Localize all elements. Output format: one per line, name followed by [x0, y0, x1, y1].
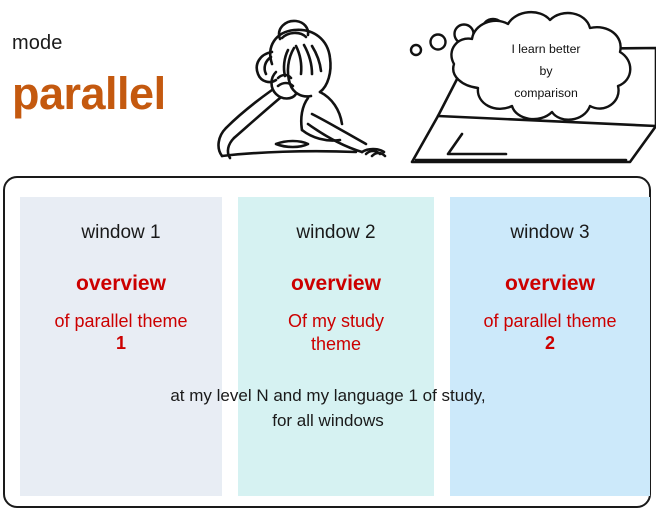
mode-label: mode [12, 33, 62, 53]
window-1-theme-number: 1 [20, 333, 222, 355]
thought-bubble-line-3: comparison [514, 86, 578, 100]
thought-dot-small [411, 45, 421, 55]
mode-title: parallel [12, 71, 166, 116]
window-panel-3[interactable]: window 3 overview of parallel theme 2 [450, 197, 650, 496]
window-3-overview-label: overview [450, 273, 650, 294]
window-1-overview-label: overview [20, 273, 222, 294]
window-1-description: of parallel theme [20, 310, 222, 333]
header: mode parallel [0, 0, 656, 176]
thought-bubble-line-2: by [540, 64, 554, 78]
window-1-title: window 1 [20, 223, 222, 242]
window-2-title: window 2 [238, 223, 434, 242]
thought-bubble-line-1: I learn better [511, 42, 580, 56]
window-panel-2[interactable]: window 2 overview Of my study theme [238, 197, 434, 496]
thought-dot-medium [431, 35, 446, 50]
window-2-overview-label: overview [238, 273, 434, 294]
student-at-laptop-illustration: I learn better by comparison [216, 2, 656, 176]
window-3-description: of parallel theme [450, 310, 650, 333]
window-3-title: window 3 [450, 223, 650, 242]
window-panel-1[interactable]: window 1 overview of parallel theme 1 [20, 197, 222, 496]
windows-frame: window 1 overview of parallel theme 1 wi… [3, 176, 651, 508]
window-2-description: Of my study theme [238, 310, 434, 355]
window-3-theme-number: 2 [450, 333, 650, 355]
